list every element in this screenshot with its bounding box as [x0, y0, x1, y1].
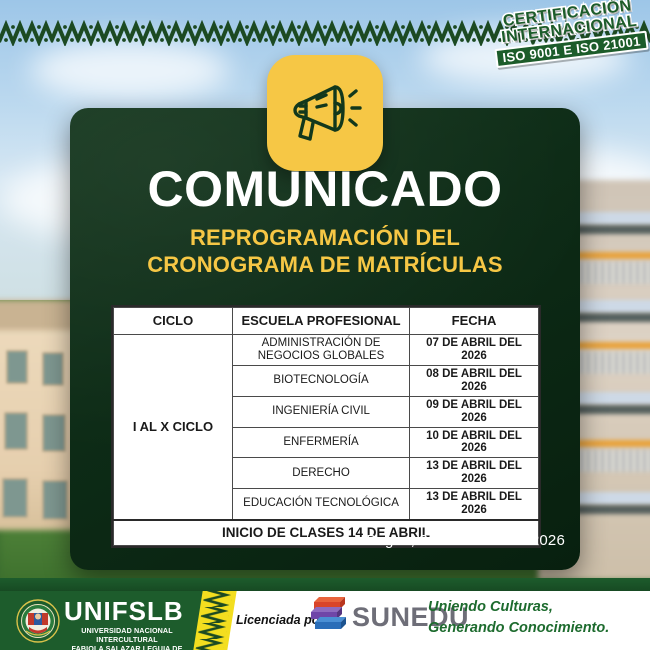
schedule-table: CICLO ESCUELA PROFESIONAL FECHA I AL X C… — [113, 307, 539, 546]
window — [6, 350, 28, 384]
column-header-ciclo: CICLO — [114, 308, 233, 335]
table-row: I AL X CICLO ADMINISTRACIÓN DE NEGOCIOS … — [114, 335, 539, 366]
tagline-line-2: Generando Conocimiento. — [428, 618, 609, 639]
cell-school: BIOTECNOLOGÍA — [233, 366, 410, 397]
megaphone-icon — [267, 55, 383, 171]
cell-date: 09 DE ABRIL DEL 2026 — [410, 396, 539, 427]
cell-date: 07 DE ABRIL DEL 2026 — [410, 335, 539, 366]
cell-ciclo: I AL X CICLO — [114, 335, 233, 520]
page-title: COMUNICADO — [70, 160, 580, 218]
cell-school: DERECHO — [233, 458, 410, 489]
table-header-row: CICLO ESCUELA PROFESIONAL FECHA — [114, 308, 539, 335]
university-crest-icon — [16, 599, 60, 643]
university-name-line-1: UNIVERSIDAD NACIONAL INTERCULTURAL — [64, 626, 190, 644]
cell-date: 13 DE ABRIL DEL 2026 — [410, 489, 539, 520]
place-date: Bagua, 31 de marzo de 2026 — [70, 532, 565, 549]
window — [42, 414, 66, 452]
column-header-escuela: ESCUELA PROFESIONAL — [233, 308, 410, 335]
cell-school: ADMINISTRACIÓN DE NEGOCIOS GLOBALES — [233, 335, 410, 366]
subtitle-line-2: CRONOGRAMA DE MATRÍCULAS — [85, 252, 565, 279]
university-full-name: UNIVERSIDAD NACIONAL INTERCULTURAL FABIO… — [64, 626, 190, 650]
cell-school: ENFERMERÍA — [233, 427, 410, 458]
page-subtitle: REPROGRAMACIÓN DEL CRONOGRAMA DE MATRÍCU… — [85, 225, 565, 279]
cell-date: 10 DE ABRIL DEL 2026 — [410, 427, 539, 458]
cell-school: EDUCACIÓN TECNOLÓGICA — [233, 489, 410, 520]
window — [42, 352, 64, 386]
footer-top-rule — [0, 578, 650, 591]
university-acronym: UNIFSLB — [64, 598, 190, 624]
window — [2, 478, 28, 518]
cloud — [30, 40, 230, 100]
tagline-line-1: Uniendo Culturas, — [428, 597, 609, 618]
cell-date: 13 DE ABRIL DEL 2026 — [410, 458, 539, 489]
subtitle-line-1: REPROGRAMACIÓN DEL — [85, 225, 565, 252]
column-header-fecha: FECHA — [410, 308, 539, 335]
cell-date: 08 DE ABRIL DEL 2026 — [410, 366, 539, 397]
sunedu-logo-icon — [307, 592, 351, 634]
cell-school: INGENIERÍA CIVIL — [233, 396, 410, 427]
university-tagline: Uniendo Culturas, Generando Conocimiento… — [428, 597, 609, 639]
window — [42, 480, 68, 520]
window — [4, 412, 28, 450]
university-name-line-2: FABIOLA SALAZAR LEGUIA DE BAGUA — [64, 644, 190, 650]
university-identity: UNIFSLB UNIVERSIDAD NACIONAL INTERCULTUR… — [64, 598, 190, 650]
schedule-table-container: CICLO ESCUELA PROFESIONAL FECHA I AL X C… — [111, 305, 541, 548]
